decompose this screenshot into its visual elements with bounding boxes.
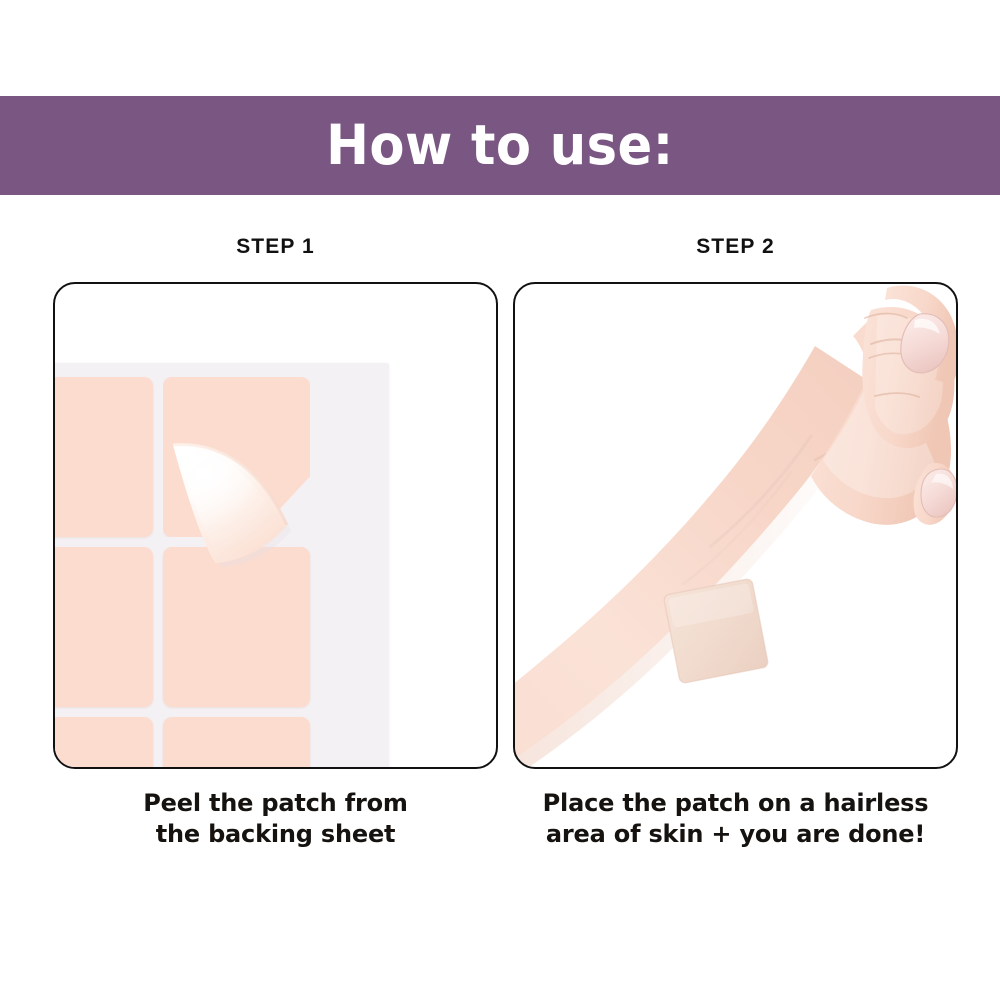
patch-tile: [53, 547, 153, 707]
patch-tile: [53, 717, 153, 769]
forearm-shape: [515, 346, 867, 767]
patch-tile-peeling: [163, 377, 310, 537]
step-2-panel: [513, 282, 958, 769]
page-title: How to use:: [326, 118, 674, 173]
patch-tile: [53, 377, 153, 537]
patch-grid: [53, 377, 389, 769]
step-1-caption: Peel the patch from the backing sheet: [53, 788, 498, 849]
caption-line: area of skin + you are done!: [503, 819, 968, 850]
caption-line: Peel the patch from: [53, 788, 498, 819]
step-1-label: STEP 1: [53, 235, 498, 259]
how-to-use-infographic: How to use: STEP 1 STEP 2: [0, 0, 1000, 1000]
applied-patch: [663, 578, 769, 684]
forearm-illustration: [515, 284, 956, 767]
patch-tile: [163, 717, 310, 769]
backing-sheet: [53, 363, 389, 769]
caption-line: Place the patch on a hairless: [503, 788, 968, 819]
caption-line: the backing sheet: [53, 819, 498, 850]
step-1-panel: [53, 282, 498, 769]
patch-tile: [163, 547, 310, 707]
step-2-caption: Place the patch on a hairless area of sk…: [503, 788, 968, 849]
header-banner: How to use:: [0, 96, 1000, 195]
step-2-label: STEP 2: [513, 235, 958, 259]
